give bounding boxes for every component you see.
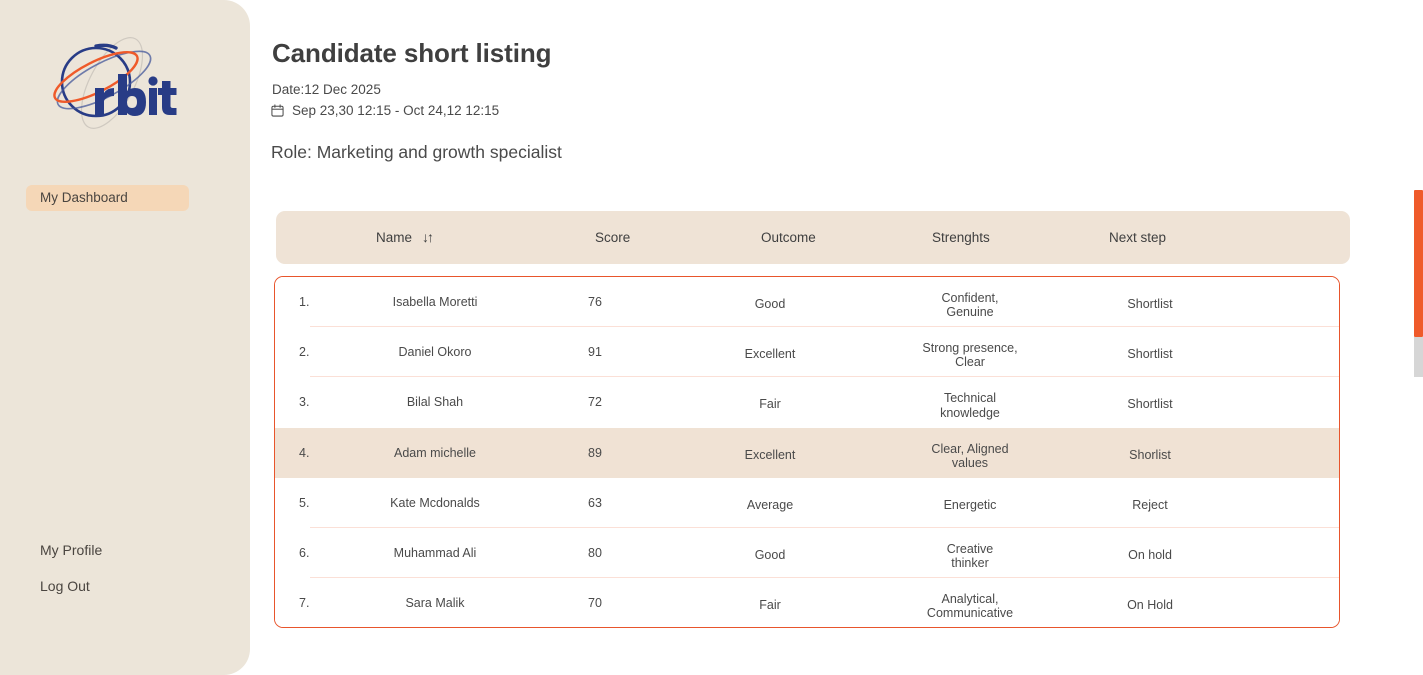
app-root: My Dashboard My Profile Log Out Candidat…	[0, 0, 1423, 675]
row-outcome: Fair	[715, 397, 825, 411]
row-outcome: Good	[715, 297, 825, 311]
row-next-step: On Hold	[1085, 598, 1215, 612]
row-strengths: Confident, Genuine	[885, 291, 1055, 319]
main-content: Candidate short listing Date:12 Dec 2025…	[250, 0, 1423, 675]
row-strengths: Analytical, Communicative	[885, 592, 1055, 620]
table-row[interactable]: 3. Bilal Shah 72 Fair Technical knowledg…	[275, 377, 1339, 427]
row-index: 5.	[299, 496, 309, 510]
row-score: 80	[565, 546, 625, 560]
scrollbar-track-lower[interactable]	[1414, 337, 1423, 377]
sidebar-item-my-profile[interactable]: My Profile	[40, 541, 220, 560]
row-score: 91	[565, 345, 625, 359]
row-next-step: Shortlist	[1085, 297, 1215, 311]
row-score: 76	[565, 295, 625, 309]
row-next-step: Shortlist	[1085, 397, 1215, 411]
row-index: 6.	[299, 546, 309, 560]
sidebar-nav-secondary: My Profile Log Out	[40, 541, 220, 613]
table-row[interactable]: 7. Sara Malik 70 Fair Analytical, Commun…	[275, 578, 1339, 628]
row-outcome: Average	[715, 498, 825, 512]
row-name: Sara Malik	[335, 596, 535, 610]
row-next-step: Shortlist	[1085, 347, 1215, 361]
row-strengths: Energetic	[885, 498, 1055, 512]
row-name: Kate Mcdonalds	[335, 496, 535, 510]
sidebar-item-my-dashboard[interactable]: My Dashboard	[26, 185, 189, 211]
table-body: 1. Isabella Moretti 76 Good Confident, G…	[274, 276, 1340, 628]
table-row[interactable]: 1. Isabella Moretti 76 Good Confident, G…	[275, 277, 1339, 327]
row-outcome: Fair	[715, 598, 825, 612]
row-index: 7.	[299, 596, 309, 610]
sidebar: My Dashboard My Profile Log Out	[0, 0, 250, 675]
sort-toggle-icon[interactable]: ↓↑	[422, 211, 432, 264]
row-index: 4.	[299, 446, 309, 460]
sidebar-nav-primary: My Dashboard	[26, 185, 189, 211]
date-range: Sep 23,30 12:15 - Oct 24,12 12:15	[271, 103, 499, 118]
row-score: 63	[565, 496, 625, 510]
row-name: Muhammad Ali	[335, 546, 535, 560]
table-header-row: Name ↓↑ Score Outcome Strenghts Next ste…	[276, 211, 1350, 264]
row-strengths: Creative thinker	[885, 542, 1055, 570]
column-header-name[interactable]: Name ↓↑	[376, 211, 432, 264]
column-header-strengths[interactable]: Strenghts	[932, 211, 990, 264]
table-row[interactable]: 4. Adam michelle 89 Excellent Clear, Ali…	[275, 428, 1339, 478]
scrollbar-thumb[interactable]	[1414, 190, 1423, 337]
page-title: Candidate short listing	[272, 38, 551, 69]
column-header-score[interactable]: Score	[595, 211, 630, 264]
orbit-logo	[38, 34, 178, 132]
row-outcome: Good	[715, 548, 825, 562]
row-name: Adam michelle	[335, 446, 535, 460]
row-name: Bilal Shah	[335, 395, 535, 409]
column-header-name-label: Name	[376, 211, 412, 264]
column-header-outcome[interactable]: Outcome	[761, 211, 816, 264]
row-strengths: Strong presence, Clear	[885, 341, 1055, 369]
row-score: 72	[565, 395, 625, 409]
row-next-step: On hold	[1085, 548, 1215, 562]
row-index: 1.	[299, 295, 309, 309]
table-row[interactable]: 6. Muhammad Ali 80 Good Creative thinker…	[275, 528, 1339, 578]
table-row[interactable]: 5. Kate Mcdonalds 63 Average Energetic R…	[275, 478, 1339, 528]
row-name: Daniel Okoro	[335, 345, 535, 359]
date-range-text: Sep 23,30 12:15 - Oct 24,12 12:15	[292, 103, 499, 118]
row-outcome: Excellent	[715, 448, 825, 462]
row-score: 89	[565, 446, 625, 460]
row-strengths: Technical knowledge	[885, 391, 1055, 419]
row-outcome: Excellent	[715, 347, 825, 361]
row-next-step: Reject	[1085, 498, 1215, 512]
calendar-icon	[271, 104, 284, 117]
row-score: 70	[565, 596, 625, 610]
role-label: Role: Marketing and growth specialist	[271, 142, 562, 163]
row-name: Isabella Moretti	[335, 295, 535, 309]
scrollbar-track[interactable]	[1414, 0, 1423, 675]
row-strengths: Clear, Aligned values	[885, 442, 1055, 470]
sidebar-item-log-out[interactable]: Log Out	[40, 577, 220, 596]
row-index: 2.	[299, 345, 309, 359]
row-index: 3.	[299, 395, 309, 409]
date-label: Date:12 Dec 2025	[272, 82, 381, 97]
table-row[interactable]: 2. Daniel Okoro 91 Excellent Strong pres…	[275, 327, 1339, 377]
column-header-next-step[interactable]: Next step	[1109, 211, 1166, 264]
row-next-step: Shorlist	[1085, 448, 1215, 462]
